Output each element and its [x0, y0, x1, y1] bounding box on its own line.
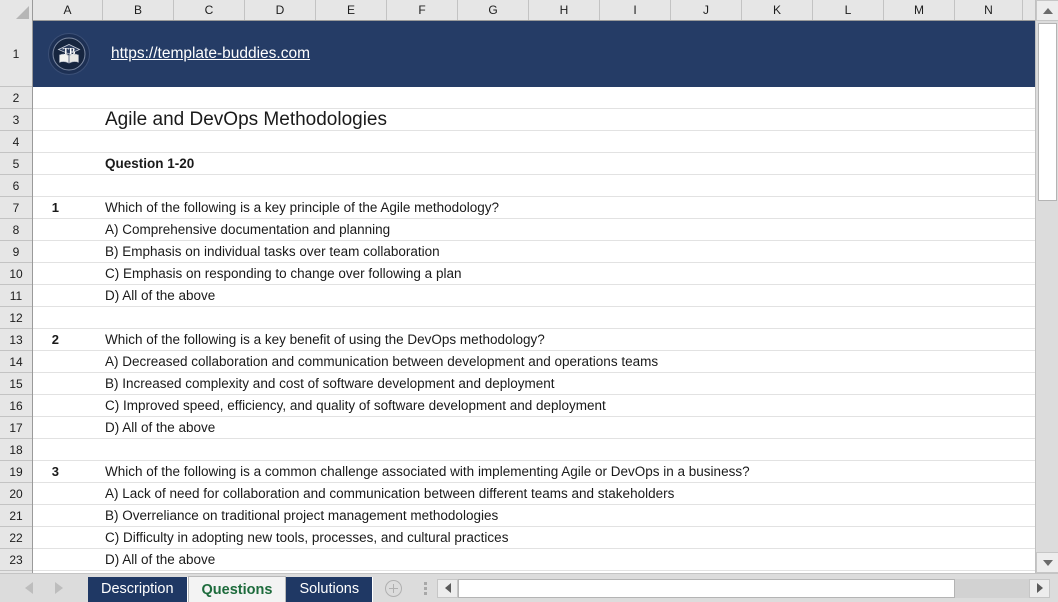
question-option: C) Difficulty in adopting new tools, pro… [105, 527, 508, 549]
sheet-navigation-arrows[interactable] [0, 574, 88, 602]
vertical-scrollbar[interactable] [1035, 0, 1058, 573]
grid-row-12[interactable] [33, 307, 1035, 329]
column-header-k[interactable]: K [742, 0, 813, 20]
page-title: Agile and DevOps Methodologies [105, 109, 387, 131]
sheet-tab-bar: DescriptionQuestionsSolutions [0, 573, 1058, 602]
row-header-18[interactable]: 18 [0, 439, 32, 461]
grip-dots-icon [424, 580, 427, 597]
scroll-left-button[interactable] [437, 579, 458, 598]
vertical-scroll-thumb[interactable] [1038, 23, 1057, 201]
column-header-row: ABCDEFGHIJKLMN [0, 0, 1035, 21]
grid-row-18[interactable] [33, 439, 1035, 461]
row-header-9[interactable]: 9 [0, 241, 32, 263]
row-header-21[interactable]: 21 [0, 505, 32, 527]
previous-sheet-icon[interactable] [25, 582, 33, 594]
section-heading: Question 1-20 [105, 153, 194, 175]
column-header-c[interactable]: C [174, 0, 245, 20]
row-header-17[interactable]: 17 [0, 417, 32, 439]
row-header-12[interactable]: 12 [0, 307, 32, 329]
question-prompt: Which of the following is a key benefit … [105, 329, 545, 351]
sheet-grid[interactable]: TB https://template-buddies.com Agile an… [33, 21, 1035, 573]
question-option: B) Emphasis on individual tasks over tea… [105, 241, 440, 263]
row-header-5[interactable]: 5 [0, 153, 32, 175]
grid-row-2[interactable] [33, 87, 1035, 109]
column-header-j[interactable]: J [671, 0, 742, 20]
grid-row-6[interactable] [33, 175, 1035, 197]
row-header-22[interactable]: 22 [0, 527, 32, 549]
horizontal-scroll-track[interactable] [458, 579, 1029, 598]
row-header-2[interactable]: 2 [0, 87, 32, 109]
horizontal-scroll-thumb[interactable] [458, 579, 955, 598]
column-header-a[interactable]: A [33, 0, 103, 20]
spreadsheet-window: ABCDEFGHIJKLMN 1234567891011121314151617… [0, 0, 1058, 602]
column-header-b[interactable]: B [103, 0, 174, 20]
brand-banner: TB https://template-buddies.com [33, 21, 1035, 87]
row-header-6[interactable]: 6 [0, 175, 32, 197]
sheet-tab-questions[interactable]: Questions [188, 576, 287, 602]
scroll-down-button[interactable] [1036, 552, 1058, 573]
row-header-23[interactable]: 23 [0, 549, 32, 571]
row-header-10[interactable]: 10 [0, 263, 32, 285]
next-sheet-icon[interactable] [55, 582, 63, 594]
chevron-right-icon [1037, 583, 1043, 593]
row-header-15[interactable]: 15 [0, 373, 32, 395]
row-header-16[interactable]: 16 [0, 395, 32, 417]
question-option: C) Improved speed, efficiency, and quali… [105, 395, 606, 417]
template-buddies-logo-icon: TB [48, 33, 90, 75]
splitter-grip[interactable] [413, 574, 437, 602]
row-header-11[interactable]: 11 [0, 285, 32, 307]
question-option: B) Overreliance on traditional project m… [105, 505, 498, 527]
sheet-tab-solutions[interactable]: Solutions [286, 577, 373, 602]
question-option: A) Lack of need for collaboration and co… [105, 483, 674, 505]
row-header-8[interactable]: 8 [0, 219, 32, 241]
question-number: 3 [37, 461, 59, 483]
question-prompt: Which of the following is a common chall… [105, 461, 750, 483]
question-option: B) Increased complexity and cost of soft… [105, 373, 555, 395]
question-option: A) Decreased collaboration and communica… [105, 351, 658, 373]
question-prompt: Which of the following is a key principl… [105, 197, 499, 219]
question-option: D) All of the above [105, 417, 215, 439]
add-sheet-button[interactable] [373, 574, 413, 602]
column-header-i[interactable]: I [600, 0, 671, 20]
row-header-3[interactable]: 3 [0, 109, 32, 131]
plus-icon [385, 580, 402, 597]
website-link[interactable]: https://template-buddies.com [111, 45, 310, 63]
row-header-20[interactable]: 20 [0, 483, 32, 505]
column-header-m[interactable]: M [884, 0, 955, 20]
row-header-4[interactable]: 4 [0, 131, 32, 153]
svg-text:TB: TB [63, 48, 76, 58]
scroll-up-button[interactable] [1036, 0, 1058, 21]
row-header-14[interactable]: 14 [0, 351, 32, 373]
chevron-left-icon [445, 583, 451, 593]
row-header-13[interactable]: 13 [0, 329, 32, 351]
question-option: D) All of the above [105, 549, 215, 571]
question-number: 1 [37, 197, 59, 219]
column-header-d[interactable]: D [245, 0, 316, 20]
column-header-g[interactable]: G [458, 0, 529, 20]
horizontal-scrollbar[interactable] [437, 579, 1050, 598]
question-option: D) All of the above [105, 285, 215, 307]
row-header-1[interactable]: 1 [0, 21, 32, 87]
row-header-19[interactable]: 19 [0, 461, 32, 483]
sheet-tab-description[interactable]: Description [88, 577, 188, 602]
select-all-corner[interactable] [0, 0, 33, 21]
row-header-7[interactable]: 7 [0, 197, 32, 219]
grid-row-4[interactable] [33, 131, 1035, 153]
chevron-up-icon [1043, 8, 1053, 14]
row-header-column: 1234567891011121314151617181920212223 [0, 21, 33, 573]
column-header-n[interactable]: N [955, 0, 1023, 20]
chevron-down-icon [1043, 560, 1053, 566]
column-header-e[interactable]: E [316, 0, 387, 20]
column-header-f[interactable]: F [387, 0, 458, 20]
scroll-right-button[interactable] [1029, 579, 1050, 598]
sheet-tabs[interactable]: DescriptionQuestionsSolutions [88, 574, 373, 602]
select-all-triangle-icon [16, 6, 29, 19]
column-header-l[interactable]: L [813, 0, 884, 20]
question-option: C) Emphasis on responding to change over… [105, 263, 461, 285]
question-option: A) Comprehensive documentation and plann… [105, 219, 390, 241]
column-header-h[interactable]: H [529, 0, 600, 20]
question-number: 2 [37, 329, 59, 351]
